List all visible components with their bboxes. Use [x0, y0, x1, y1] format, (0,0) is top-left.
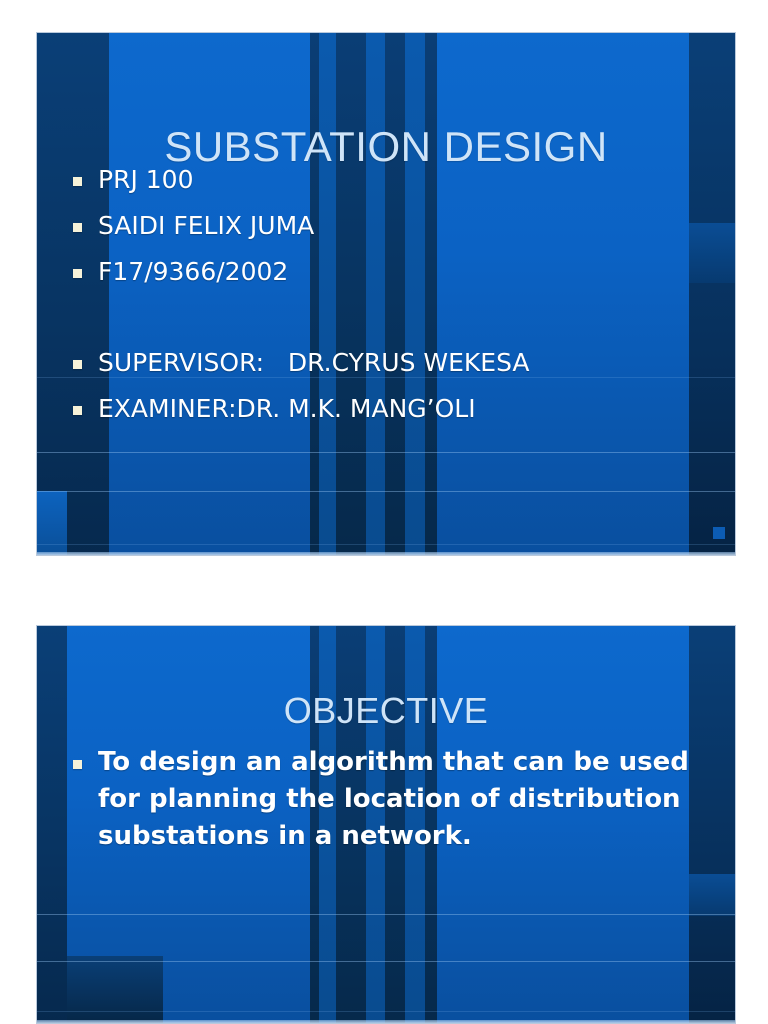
square-bullet-icon [73, 360, 82, 369]
slide-2[interactable]: OBJECTIVE To design an algorithm that ca… [36, 625, 736, 1024]
list-item[interactable]: EXAMINER:DR. M.K. MANG’OLI [73, 390, 705, 427]
list-item-spacer [73, 299, 705, 335]
list-item[interactable]: To design an algorithm that can be used … [73, 744, 707, 855]
square-bullet-icon [73, 177, 82, 186]
square-bullet-icon [73, 760, 82, 769]
list-item-label: To design an algorithm that can be used … [98, 744, 707, 855]
background-rule-2 [37, 961, 735, 962]
background-rule-2 [37, 452, 735, 453]
background-rule-3 [37, 491, 735, 492]
list-item[interactable]: SUPERVISOR: DR.CYRUS WEKESA [73, 344, 705, 381]
slide-1[interactable]: SUBSTATION DESIGN PRJ 100 SAIDI FELIX JU… [36, 32, 736, 556]
slide-2-bullet-list: To design an algorithm that can be used … [73, 744, 707, 861]
background-bottom-rule [37, 1020, 735, 1023]
handout-page: SUBSTATION DESIGN PRJ 100 SAIDI FELIX JU… [0, 0, 768, 1024]
background-right-inset [689, 874, 735, 916]
list-item-label: SAIDI FELIX JUMA [98, 207, 314, 244]
slide-2-title: OBJECTIVE [37, 690, 735, 732]
square-bullet-icon [73, 269, 82, 278]
background-left-inset [67, 956, 163, 1023]
list-item[interactable]: F17/9366/2002 [73, 253, 705, 290]
background-left-column [37, 626, 67, 1023]
background-rule-1 [37, 914, 735, 915]
background-left-inset [37, 491, 67, 555]
background-bottom-rule [37, 552, 735, 555]
list-item-label: PRJ 100 [98, 161, 193, 198]
background-rule-3 [37, 1011, 735, 1012]
list-item-label: EXAMINER:DR. M.K. MANG’OLI [98, 390, 476, 427]
background-rule-4 [37, 544, 735, 545]
slide-1-bullet-list: PRJ 100 SAIDI FELIX JUMA F17/9366/2002 S… [73, 161, 705, 436]
list-item[interactable]: SAIDI FELIX JUMA [73, 207, 705, 244]
background-right-chip [713, 527, 725, 539]
square-bullet-icon [73, 406, 82, 415]
list-item[interactable]: PRJ 100 [73, 161, 705, 198]
list-item-label: F17/9366/2002 [98, 253, 288, 290]
square-bullet-icon [73, 223, 82, 232]
list-item-label: SUPERVISOR: DR.CYRUS WEKESA [98, 344, 530, 381]
